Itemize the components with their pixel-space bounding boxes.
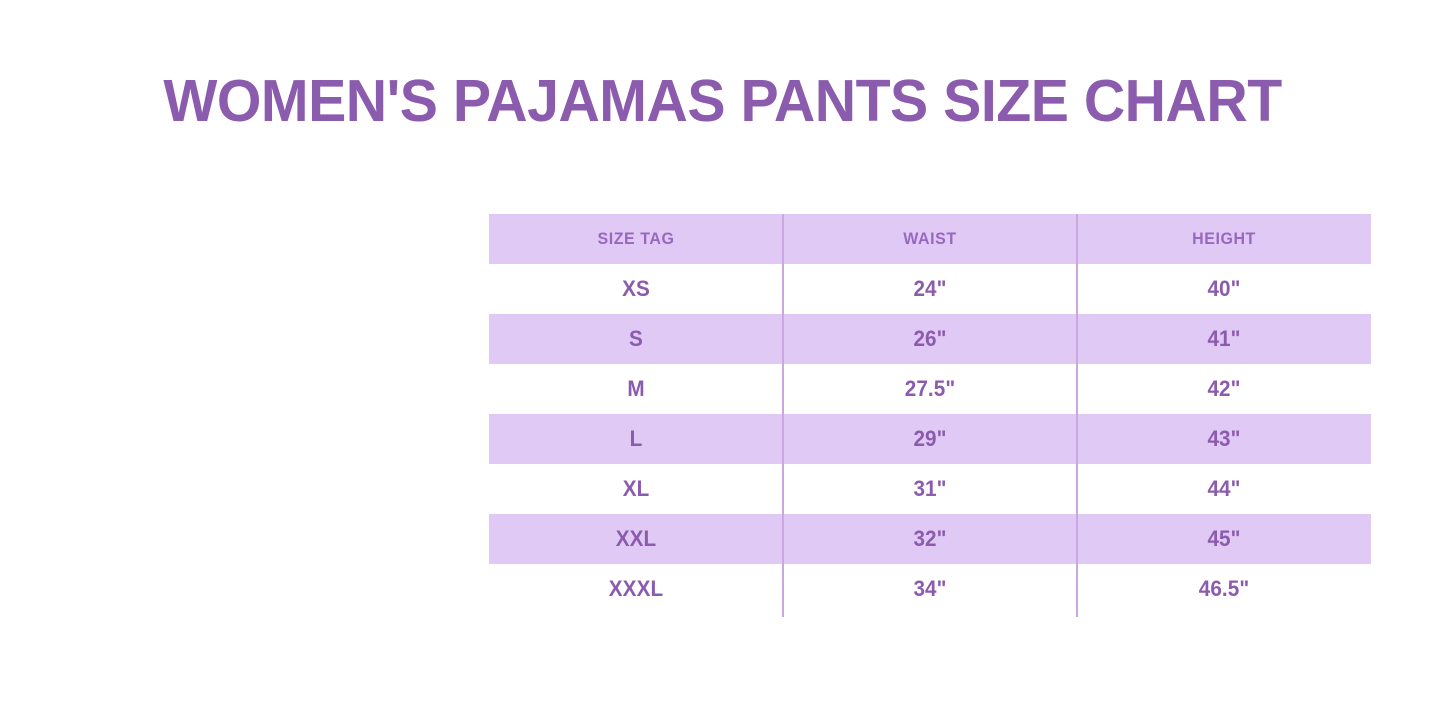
column-header-waist: WAIST (792, 214, 1068, 264)
cell-size_tag: S (498, 314, 774, 364)
table-row: S26"41" (489, 314, 1371, 364)
cell-size_tag: XL (498, 464, 774, 514)
cell-height: 45" (1086, 514, 1362, 564)
column-divider-1 (782, 214, 784, 617)
column-header-height: HEIGHT (1086, 214, 1362, 264)
cell-height: 40" (1086, 264, 1362, 314)
cell-waist: 24" (792, 264, 1068, 314)
table-row: XL31"44" (489, 464, 1371, 514)
column-divider-2 (1076, 214, 1078, 617)
cell-size_tag: XXXL (498, 564, 774, 614)
cell-height: 42" (1086, 364, 1362, 414)
cell-waist: 27.5" (792, 364, 1068, 414)
cell-height: 46.5" (1086, 564, 1362, 614)
table-header-row: SIZE TAG WAIST HEIGHT (489, 214, 1371, 264)
page-title: WOMEN'S PAJAMAS PANTS SIZE CHART (22, 66, 1424, 136)
table-row: M27.5"42" (489, 364, 1371, 414)
table-header: SIZE TAG WAIST HEIGHT (489, 214, 1371, 264)
size-chart-page: WOMEN'S PAJAMAS PANTS SIZE CHART SIZE TA… (0, 0, 1445, 723)
column-header-size-tag: SIZE TAG (498, 214, 774, 264)
cell-size_tag: M (498, 364, 774, 414)
cell-size_tag: XS (498, 264, 774, 314)
table-row: XS24"40" (489, 264, 1371, 314)
table-row: L29"43" (489, 414, 1371, 464)
cell-height: 43" (1086, 414, 1362, 464)
cell-height: 44" (1086, 464, 1362, 514)
cell-size_tag: XXL (498, 514, 774, 564)
cell-waist: 31" (792, 464, 1068, 514)
cell-waist: 34" (792, 564, 1068, 614)
cell-height: 41" (1086, 314, 1362, 364)
table-body: XS24"40"S26"41"M27.5"42"L29"43"XL31"44"X… (489, 264, 1371, 614)
cell-waist: 26" (792, 314, 1068, 364)
table-row: XXL32"45" (489, 514, 1371, 564)
cell-waist: 32" (792, 514, 1068, 564)
size-chart-table: SIZE TAG WAIST HEIGHT XS24"40"S26"41"M27… (489, 214, 1371, 614)
cell-waist: 29" (792, 414, 1068, 464)
table-row: XXXL34"46.5" (489, 564, 1371, 614)
cell-size_tag: L (498, 414, 774, 464)
